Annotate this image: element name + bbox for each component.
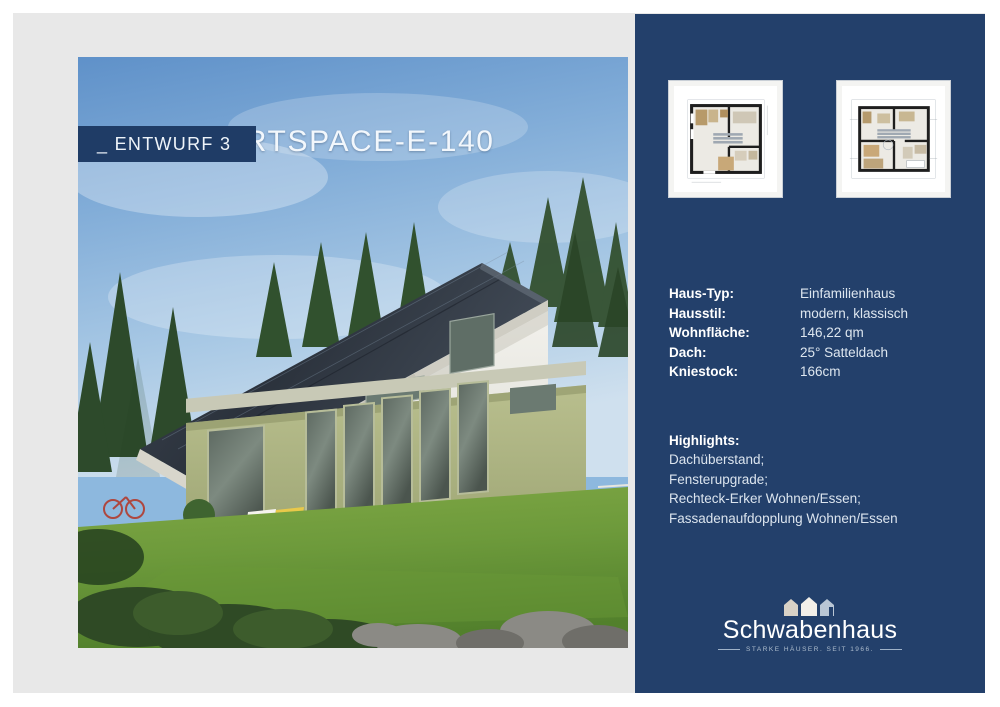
brand-tagline: STARKE HÄUSER. SEIT 1966. — [746, 646, 874, 653]
variant-badge: _ ENTWURF 3 — [78, 126, 256, 162]
spec-row: Kniestock: 166cm — [669, 364, 969, 384]
spec-row: Hausstil: modern, klassisch — [669, 306, 969, 326]
spec-value: Einfamilienhaus — [800, 286, 895, 301]
info-panel: Haus-Typ: Einfamilienhaus Hausstil: mode… — [635, 14, 985, 693]
brand-logo: Schwabenhaus STARKE HÄUSER. SEIT 1966. — [635, 596, 985, 653]
highlight-item: Dachüberstand; — [669, 450, 979, 470]
highlight-item: Rechteck-Erker Wohnen/Essen; — [669, 489, 979, 509]
brand-wordmark: Schwabenhaus — [635, 617, 985, 644]
brochure-page: SMARTSPACE-E-140 _ ENTWURF 3 — [0, 0, 1000, 707]
highlight-item: Fassadenaufdopplung Wohnen/Essen — [669, 509, 979, 529]
floor-plan-upper-floor[interactable] — [836, 80, 951, 198]
spec-row: Wohnfläche: 146,22 qm — [669, 325, 969, 345]
spec-list: Haus-Typ: Einfamilienhaus Hausstil: mode… — [669, 286, 969, 384]
highlight-item: Fensterupgrade; — [669, 470, 979, 490]
spec-row: Dach: 25° Satteldach — [669, 345, 969, 365]
tagline-rule-right — [880, 649, 902, 650]
tagline-rule-left — [718, 649, 740, 650]
floor-plan-ground-floor[interactable] — [668, 80, 783, 198]
spec-label: Wohnfläche: — [669, 325, 800, 340]
spec-value: 146,22 qm — [800, 325, 864, 340]
ground-floor-plan-drawing — [674, 86, 777, 192]
upper-floor-plan-drawing — [842, 86, 945, 192]
spec-value: modern, klassisch — [800, 306, 908, 321]
variant-badge-label: _ ENTWURF 3 — [78, 134, 231, 155]
highlights-title: Highlights: — [669, 433, 979, 448]
spec-label: Hausstil: — [669, 306, 800, 321]
spec-value: 25° Satteldach — [800, 345, 888, 360]
spec-label: Dach: — [669, 345, 800, 360]
house-roofs-icon — [780, 596, 840, 616]
spec-value: 166cm — [800, 364, 841, 379]
spec-label: Haus-Typ: — [669, 286, 800, 301]
floor-plan-thumbnails — [668, 80, 951, 198]
highlights-section: Highlights: Dachüberstand; Fensterupgrad… — [669, 433, 979, 528]
spec-label: Kniestock: — [669, 364, 800, 379]
spec-row: Haus-Typ: Einfamilienhaus — [669, 286, 969, 306]
brand-tagline-row: STARKE HÄUSER. SEIT 1966. — [635, 646, 985, 653]
